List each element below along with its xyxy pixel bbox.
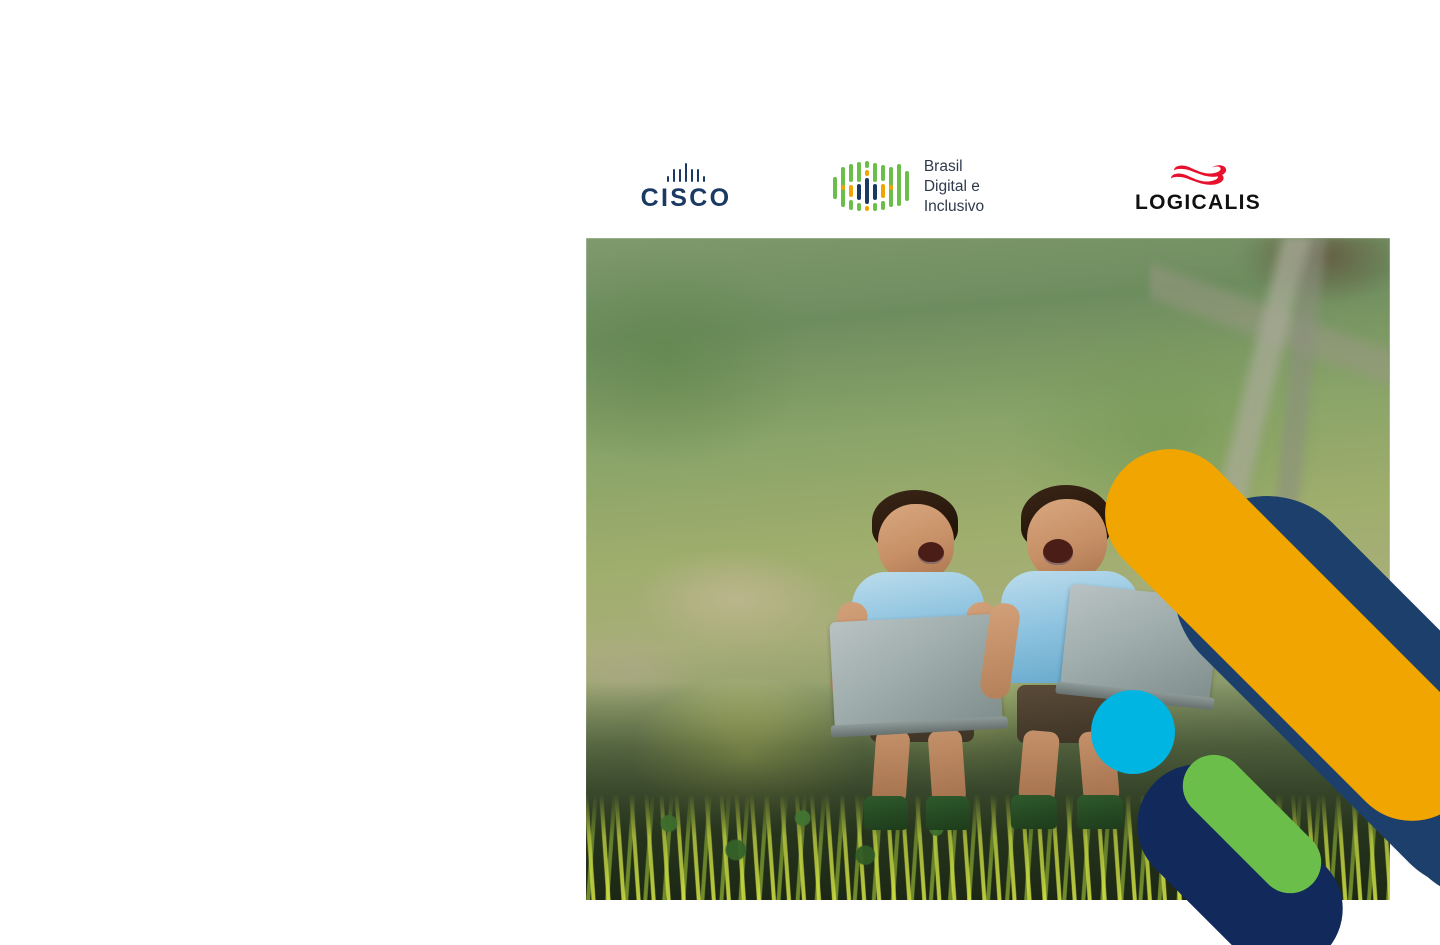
photo-child-right bbox=[981, 485, 1181, 840]
logicalis-infinity-icon bbox=[1167, 161, 1229, 189]
logo-slot-logicalis: LOGICALIS bbox=[1073, 148, 1323, 226]
logicalis-logo: LOGICALIS bbox=[1135, 161, 1261, 213]
photo-bamboo-structure bbox=[1150, 238, 1390, 538]
bdi-line-1: Brasil bbox=[924, 157, 984, 177]
logicalis-wordmark: LOGICALIS bbox=[1135, 192, 1261, 213]
cisco-bridge-icon bbox=[667, 163, 706, 182]
logo-slot-cisco: CISCO bbox=[586, 148, 786, 226]
hero-photo-image bbox=[586, 238, 1390, 900]
cisco-logo: CISCO bbox=[641, 163, 732, 211]
hero-photo bbox=[586, 238, 1390, 900]
bdi-line-2: Digital e bbox=[924, 177, 984, 197]
brasil-digital-e-inclusivo-logo: Brasil Digital e Inclusivo bbox=[833, 157, 984, 216]
logo-slot-brasil-digital-e-inclusivo: Brasil Digital e Inclusivo bbox=[786, 148, 1031, 226]
brasil-digital-e-inclusivo-wordmark: Brasil Digital e Inclusivo bbox=[924, 157, 984, 216]
equalizer-bars-icon bbox=[833, 159, 913, 215]
bdi-line-3: Inclusivo bbox=[924, 197, 984, 217]
logo-bar: CISCO bbox=[586, 148, 1390, 226]
photo-laptop-left bbox=[829, 614, 1002, 731]
page-root: CISCO bbox=[0, 0, 1440, 945]
cisco-wordmark: CISCO bbox=[641, 186, 732, 211]
